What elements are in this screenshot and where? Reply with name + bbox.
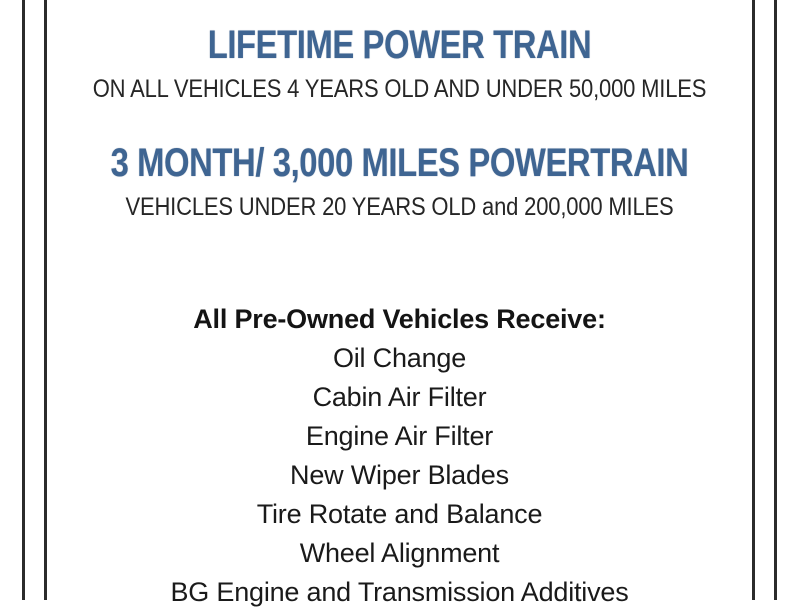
border-rule-right-outer — [774, 0, 777, 600]
service-item: BG Engine and Transmission Additives — [47, 573, 752, 612]
warranty-block-lifetime: LIFETIME POWER TRAIN ON ALL VEHICLES 4 Y… — [47, 22, 752, 104]
service-item: New Wiper Blades — [47, 456, 752, 495]
warranty-subline-3month: VEHICLES UNDER 20 YEARS OLD and 200,000 … — [89, 192, 709, 222]
services-section: All Pre-Owned Vehicles Receive: Oil Chan… — [47, 300, 752, 612]
services-title: All Pre-Owned Vehicles Receive: — [47, 300, 752, 339]
service-item: Oil Change — [47, 339, 752, 378]
service-item: Wheel Alignment — [47, 534, 752, 573]
flyer-page: LIFETIME POWER TRAIN ON ALL VEHICLES 4 Y… — [0, 0, 800, 600]
service-item: Cabin Air Filter — [47, 378, 752, 417]
border-rule-right-inner — [752, 0, 755, 600]
warranty-block-3month: 3 MONTH/ 3,000 MILES POWERTRAIN VEHICLES… — [47, 140, 752, 222]
flyer-content: LIFETIME POWER TRAIN ON ALL VEHICLES 4 Y… — [47, 0, 752, 600]
warranty-subline-lifetime: ON ALL VEHICLES 4 YEARS OLD AND UNDER 50… — [89, 74, 709, 104]
service-item: Engine Air Filter — [47, 417, 752, 456]
warranty-headline-3month: 3 MONTH/ 3,000 MILES POWERTRAIN — [110, 140, 688, 186]
services-list: Oil ChangeCabin Air FilterEngine Air Fil… — [47, 339, 752, 612]
warranty-headline-lifetime: LIFETIME POWER TRAIN — [110, 22, 688, 68]
service-item: Tire Rotate and Balance — [47, 495, 752, 534]
border-rule-left-outer — [22, 0, 25, 600]
